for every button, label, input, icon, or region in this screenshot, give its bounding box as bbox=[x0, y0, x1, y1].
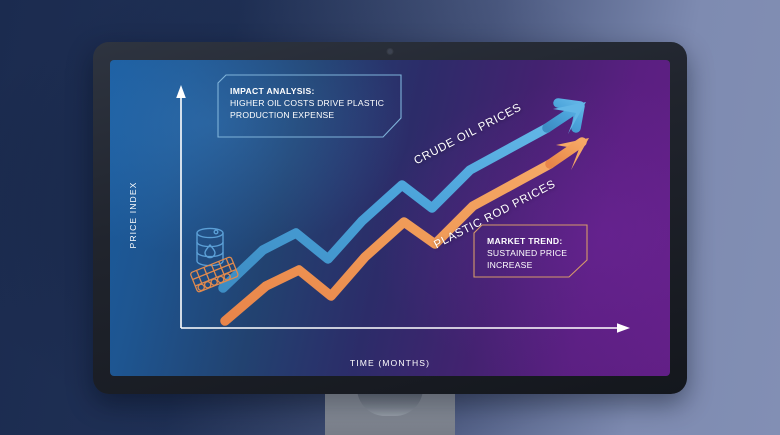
callout-impact-line1: HIGHER OIL COSTS DRIVE PLASTIC bbox=[230, 97, 384, 109]
callout-impact-analysis: IMPACT ANALYSIS: HIGHER OIL COSTS DRIVE … bbox=[217, 74, 402, 138]
callout-market-line2: INCREASE bbox=[487, 259, 567, 271]
monitor-bezel: PRICE INDEX TIME (MONTHS) CRUDE OIL PRIC… bbox=[93, 42, 687, 394]
callout-market-text: MARKET TREND: SUSTAINED PRICE INCREASE bbox=[487, 235, 567, 272]
y-axis-label: PRICE INDEX bbox=[128, 170, 138, 260]
callout-impact-title: IMPACT ANALYSIS: bbox=[230, 85, 384, 97]
x-axis bbox=[181, 323, 630, 333]
monitor-screen: PRICE INDEX TIME (MONTHS) CRUDE OIL PRIC… bbox=[110, 60, 670, 376]
x-axis-label: TIME (MONTHS) bbox=[300, 358, 480, 368]
callout-market-title: MARKET TREND: bbox=[487, 235, 567, 247]
oil-barrel-icon bbox=[197, 228, 223, 265]
callout-impact-text: IMPACT ANALYSIS: HIGHER OIL COSTS DRIVE … bbox=[230, 85, 384, 122]
callout-market-line1: SUSTAINED PRICE bbox=[487, 247, 567, 259]
screenshot-stage: PRICE INDEX TIME (MONTHS) CRUDE OIL PRIC… bbox=[0, 0, 780, 435]
y-axis bbox=[176, 85, 186, 328]
webcam-icon bbox=[388, 49, 393, 54]
callout-market-trend: MARKET TREND: SUSTAINED PRICE INCREASE bbox=[473, 224, 588, 278]
callout-impact-line2: PRODUCTION EXPENSE bbox=[230, 109, 384, 121]
